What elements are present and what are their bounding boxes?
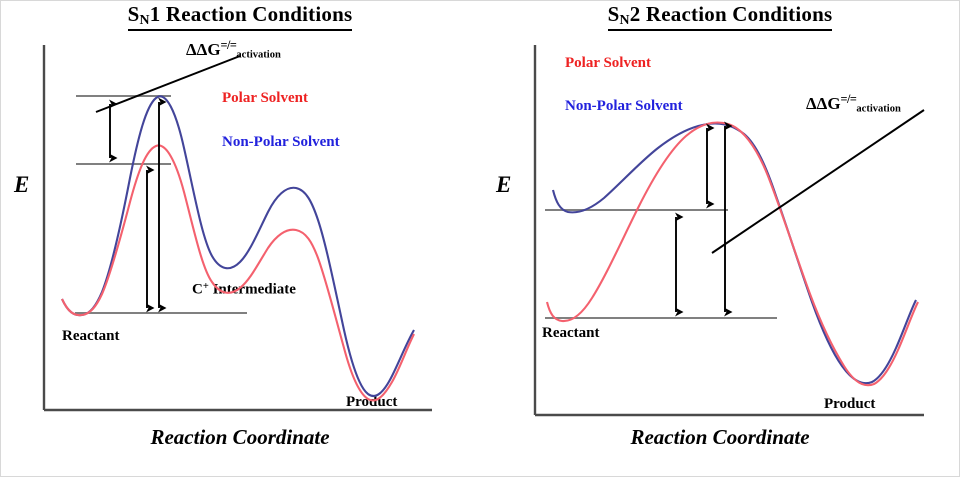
sn1-curve-nonpolar (62, 96, 414, 396)
sn1-plot-svg (0, 0, 480, 477)
sn2-panel: SN2 Reaction Conditions E Reaction Coord… (480, 0, 960, 477)
sn2-plot-svg (480, 0, 960, 477)
sn1-curve-polar (62, 145, 414, 400)
sn2-curve-polar (547, 123, 918, 386)
sn2-ddg-pointer (712, 110, 924, 253)
sn1-panel: SN1 Reaction Conditions E Reaction Coord… (0, 0, 480, 477)
sn2-curve-nonpolar (553, 123, 916, 383)
